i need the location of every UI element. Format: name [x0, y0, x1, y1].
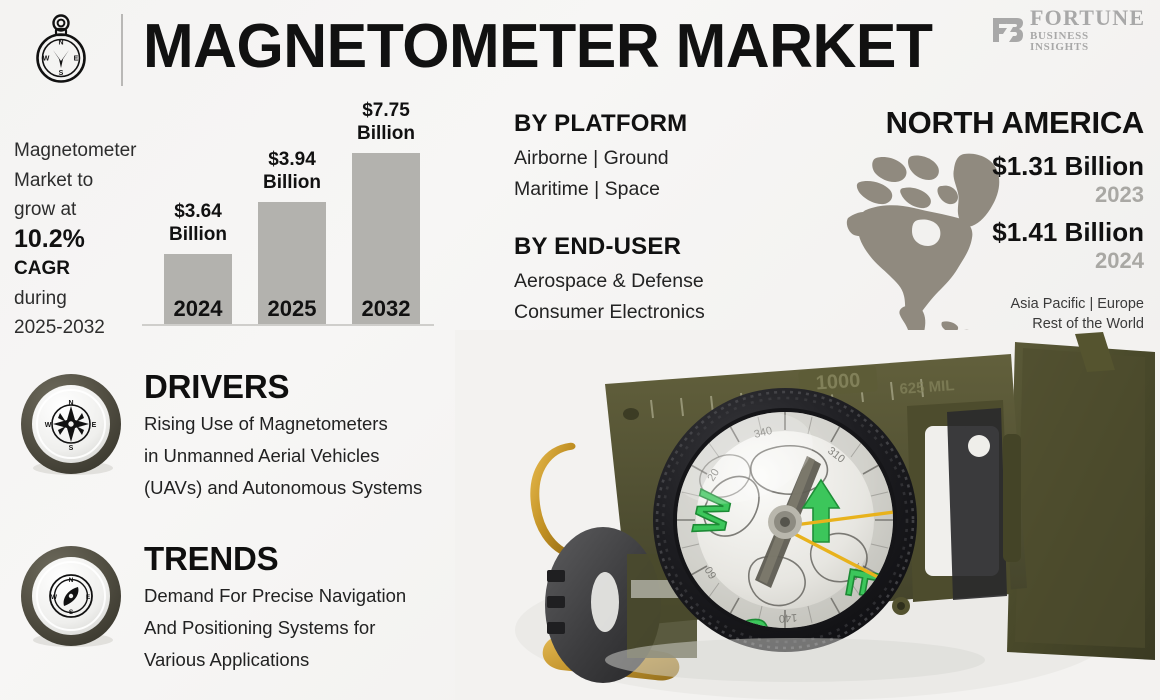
- cagr-line-1: Magnetometer: [14, 136, 154, 166]
- compass-cover: [1007, 332, 1155, 660]
- brand-text: FORTUNE BUSINESS INSIGHTS: [1030, 7, 1146, 53]
- drivers-section: N S E W DRIVERS Rising Use of Magnetomet…: [18, 368, 488, 498]
- cagr-statement: Magnetometer Market to grow at 10.2% CAG…: [14, 136, 154, 343]
- platform-line-1: Airborne | Ground: [514, 143, 814, 174]
- trends-section: N S E W TRENDS Demand For Precise Naviga…: [18, 540, 488, 670]
- brand-logo: FORTUNE BUSINESS INSIGHTS: [990, 10, 1146, 50]
- bar-value-2025: $3.94 Billion: [236, 148, 348, 194]
- trends-line-3: Various Applications: [144, 646, 494, 674]
- drivers-line-1: Rising Use of Magnetometers: [144, 410, 494, 438]
- svg-text:W: W: [51, 594, 58, 601]
- svg-text:E: E: [86, 594, 91, 601]
- drivers-title: DRIVERS: [144, 368, 494, 406]
- svg-text:N: N: [69, 577, 74, 584]
- svg-text:E: E: [74, 56, 79, 63]
- bar-value-amount-2025: $3.94: [236, 148, 348, 171]
- region-year-2023: 2023: [844, 182, 1144, 208]
- bar-value-amount-2024: $3.64: [142, 200, 254, 223]
- trends-line-1: Demand For Precise Navigation: [144, 582, 494, 610]
- svg-text:S: S: [69, 609, 74, 616]
- brand-name: FORTUNE: [1030, 7, 1146, 29]
- region-value-2024: $1.41 Billion: [844, 216, 1144, 248]
- compass-icon: N S E W: [28, 12, 94, 84]
- bar-year-2025: 2025: [258, 296, 326, 322]
- trends-body: TRENDS Demand For Precise Navigation And…: [144, 540, 494, 674]
- compass-needle-icon: N S E W: [18, 544, 124, 650]
- segment-title-platform: BY PLATFORM: [514, 110, 814, 138]
- brand-subtitle: BUSINESS INSIGHTS: [1030, 31, 1146, 53]
- header: N S E W MAGNETOMETER MARKET FORTUNE BUSI…: [0, 0, 1160, 92]
- bar-value-2032: $7.75 Billion: [330, 99, 442, 145]
- svg-text:E: E: [92, 422, 97, 429]
- compass-hinge: [907, 400, 1021, 602]
- drivers-line-3: (UAVs) and Autonomous Systems: [144, 474, 494, 502]
- segment-by-platform: BY PLATFORM Airborne | Ground Maritime |…: [514, 110, 814, 205]
- compass-rose-icon: N S E W: [18, 372, 124, 478]
- svg-text:1000: 1000: [815, 369, 861, 394]
- cagr-value: 10.2%: [14, 225, 154, 255]
- bar-value-unit-2025: Billion: [236, 171, 348, 194]
- cagr-line-4: during: [14, 284, 154, 314]
- svg-text:W: W: [43, 56, 50, 63]
- region-value-2023: $1.31 Billion: [844, 150, 1144, 182]
- cagr-line-2: Market to: [14, 166, 154, 196]
- end-user-line-1: Aerospace & Defense: [514, 266, 814, 297]
- drivers-line-2: in Unmanned Aerial Vehicles: [144, 442, 494, 470]
- svg-text:140: 140: [778, 611, 797, 624]
- drivers-body: DRIVERS Rising Use of Magnetometers in U…: [144, 368, 494, 502]
- bar-value-2024: $3.64 Billion: [142, 200, 254, 246]
- svg-text:W: W: [45, 422, 52, 429]
- cagr-metric-label: CAGR: [14, 254, 154, 284]
- cagr-line-3: grow at: [14, 195, 154, 225]
- platform-line-2: Maritime | Space: [514, 174, 814, 205]
- header-divider: [121, 14, 123, 86]
- cagr-period: 2025-2032: [14, 313, 154, 343]
- segment-title-end-user: BY END-USER: [514, 233, 814, 261]
- bar-year-2024: 2024: [164, 296, 232, 322]
- infographic-page: N S E W MAGNETOMETER MARKET FORTUNE BUSI…: [0, 0, 1160, 700]
- bar-year-2032: 2032: [352, 296, 420, 322]
- svg-text:S: S: [59, 70, 64, 77]
- region-year-2024: 2024: [844, 248, 1144, 274]
- other-regions-line-1: Asia Pacific | Europe: [844, 294, 1144, 314]
- lensatic-compass-photo: 1000 625 MIL: [455, 330, 1160, 700]
- svg-text:N: N: [68, 400, 73, 407]
- fb-monogram-icon: [990, 15, 1024, 45]
- chart-baseline: [142, 324, 434, 326]
- bar-value-unit-2032: Billion: [330, 122, 442, 145]
- bar-value-amount-2032: $7.75: [330, 99, 442, 122]
- bar-value-unit-2024: Billion: [142, 223, 254, 246]
- svg-text:S: S: [69, 445, 74, 452]
- svg-text:N: N: [58, 40, 63, 47]
- region-title: NORTH AMERICA: [844, 104, 1144, 142]
- other-regions: Asia Pacific | Europe Rest of the World: [844, 294, 1144, 334]
- trends-line-2: And Positioning Systems for: [144, 614, 494, 642]
- trends-title: TRENDS: [144, 540, 494, 578]
- market-size-bar-chart: $3.64 Billion 2024 $3.94 Billion 2025 $7…: [142, 100, 434, 332]
- page-title: MAGNETOMETER MARKET: [143, 8, 927, 86]
- region-highlight: NORTH AMERICA $1.31 Billion 2023 $1.41 B…: [844, 104, 1144, 334]
- end-user-line-2: Consumer Electronics: [514, 297, 814, 328]
